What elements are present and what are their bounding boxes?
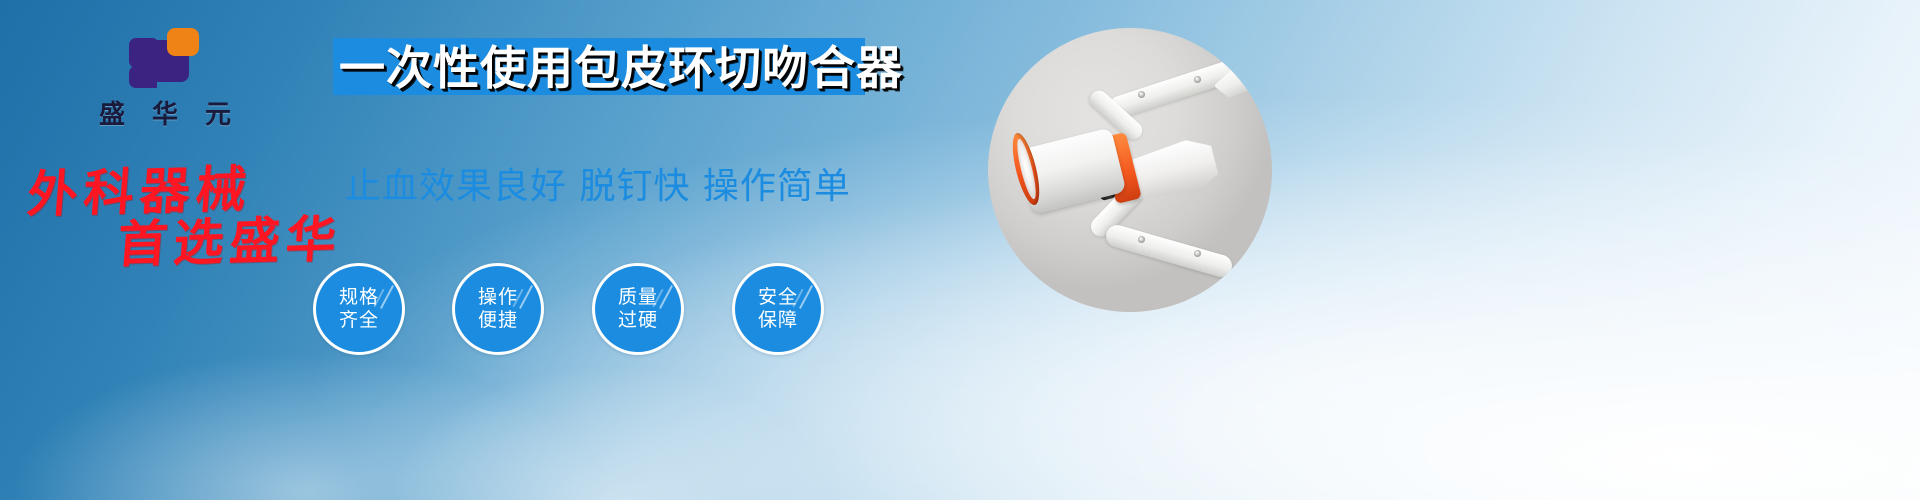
calligraphy-line-2: 首选盛华	[115, 199, 345, 277]
feature-label-line2: 便捷	[478, 309, 518, 332]
brand-logo[interactable]: 盛 华 元	[60, 28, 270, 131]
brand-name: 盛 华 元	[60, 94, 270, 131]
promo-banner: 盛 华 元 一次性使用包皮环切吻合器 外科器械 首选盛华 止血效果良好 脱钉快 …	[0, 0, 1920, 500]
product-anvil-cone	[1127, 135, 1221, 206]
subtitle: 止血效果良好 脱钉快 操作简单	[345, 166, 851, 208]
product-pivot-pin	[1138, 236, 1145, 243]
product-pivot-pin	[1194, 76, 1201, 83]
logo-square-orange	[167, 28, 199, 56]
feature-label-line1: 质量	[618, 286, 658, 309]
feature-circle[interactable]: 质量 过硬	[592, 263, 684, 355]
feature-label-line1: 操作	[478, 286, 518, 309]
product-pivot-pin	[1194, 250, 1201, 257]
feature-label-line2: 保障	[758, 309, 798, 332]
product-pivot-pin	[1138, 91, 1145, 98]
logo-square-lower-left	[129, 66, 157, 88]
feature-label-line1: 规格	[339, 286, 379, 309]
feature-label-line1: 安全	[758, 286, 798, 309]
feature-label-line2: 齐全	[339, 309, 379, 332]
feature-circle[interactable]: 规格 齐全	[313, 263, 405, 355]
product-photo	[988, 28, 1272, 312]
feature-circle[interactable]: 操作 便捷	[452, 263, 544, 355]
product-jaw-lower	[1103, 223, 1234, 280]
feature-label-line2: 过硬	[618, 309, 658, 332]
feature-circle[interactable]: 安全 保障	[732, 263, 824, 355]
feature-circle-group: 规格 齐全 操作 便捷 质量 过硬 安全 保障	[313, 263, 873, 373]
shenghuayuan-logo-icon	[129, 28, 201, 88]
page-title: 一次性使用包皮环切吻合器	[339, 41, 863, 95]
